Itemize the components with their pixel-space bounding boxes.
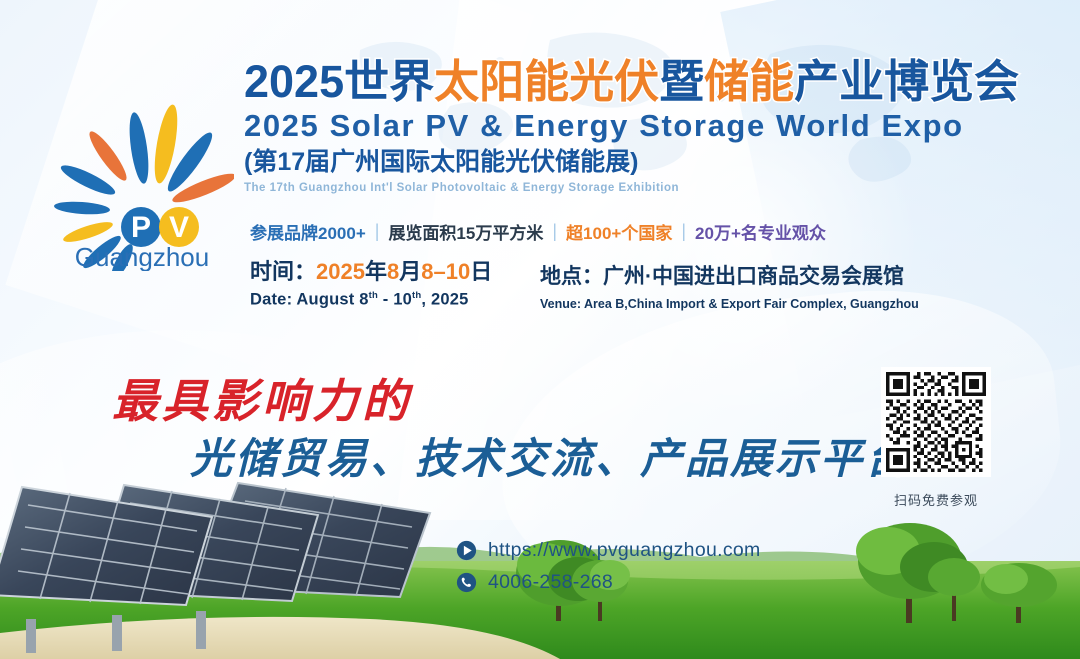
date-en-dash: - xyxy=(378,290,393,308)
date-year: 2025 xyxy=(316,259,365,284)
date-en-suffix: , 2025 xyxy=(421,290,468,308)
website-text[interactable]: https://www.pvguangzhou.com xyxy=(488,539,761,562)
expo-banner: P V Guangzhou 2025世界太阳能光伏暨储能产业博览会 2025 S… xyxy=(0,0,1080,659)
logo-letter-p: P xyxy=(131,211,151,244)
qr-code-graphic xyxy=(886,372,986,472)
date-month-unit: 月 xyxy=(399,259,421,284)
logo-wordmark: Guangzhou xyxy=(75,242,209,271)
stat-separator: | xyxy=(375,221,380,242)
title-part-2: 太阳能光伏 xyxy=(434,56,659,107)
title-part-3: 暨 xyxy=(659,56,704,107)
venue-label-cn: 地点： xyxy=(540,265,603,288)
stats-row: 参展品牌2000+ | 展览面积15万平方米 | 超100+个国家 | 20万+… xyxy=(250,219,826,244)
stat-separator: | xyxy=(552,221,557,242)
phone-row[interactable]: 4006-258-268 xyxy=(456,571,761,594)
website-row[interactable]: https://www.pvguangzhou.com xyxy=(456,539,761,562)
stat-visitors: 20万+名专业观众 xyxy=(695,219,826,244)
qr-code[interactable] xyxy=(881,367,991,477)
stat-countries: 超100+个国家 xyxy=(566,219,672,244)
title-part-4: 储能 xyxy=(704,56,794,107)
venue-english: Venue: Area B,China Import & Export Fair… xyxy=(540,297,919,311)
title-subtitle-chinese: (第17届广州国际太阳能光伏储能展) xyxy=(244,147,1044,177)
title-subtitle-english: The 17th Guangzhou Int'l Solar Photovolt… xyxy=(244,182,1044,194)
date-year-unit: 年 xyxy=(365,259,387,284)
date-en-prefix: Date: August xyxy=(250,290,359,308)
stat-separator: | xyxy=(681,221,686,242)
phone-circle-icon xyxy=(456,572,477,593)
date-day-unit: 日 xyxy=(470,259,492,284)
slogan-line-1: 最具影响力的 xyxy=(112,365,412,431)
logo-graphic: P V Guangzhou xyxy=(44,96,234,271)
header-block: 2025世界太阳能光伏暨储能产业博览会 2025 Solar PV & Ener… xyxy=(244,58,1044,194)
date-venue-block: 时间：2025年8月8–10日 Date: August 8th - 10th,… xyxy=(250,258,1010,311)
date-en-day1: 8 xyxy=(359,290,368,308)
qr-block: 扫码免费参观 xyxy=(875,367,997,509)
venue-value-cn: 广州·中国进出口商品交易会展馆 xyxy=(603,265,904,288)
pv-guangzhou-logo: P V Guangzhou xyxy=(44,96,234,271)
title-part-1: 2025世界 xyxy=(244,56,434,107)
date-month: 8 xyxy=(387,259,399,284)
title-part-5: 产业博览会 xyxy=(794,56,1019,107)
title-chinese: 2025世界太阳能光伏暨储能产业博览会 xyxy=(244,58,1044,107)
title-english: 2025 Solar PV & Energy Storage World Exp… xyxy=(244,108,1044,145)
date-label-cn: 时间： xyxy=(250,259,316,284)
date-days: 8–10 xyxy=(421,259,470,284)
date-english: Date: August 8th - 10th, 2025 xyxy=(250,290,540,310)
stat-area: 展览面积15万平方米 xyxy=(388,219,543,244)
contact-block: https://www.pvguangzhou.com 4006-258-268 xyxy=(456,539,761,603)
play-circle-icon xyxy=(456,540,477,561)
date-en-sup1: th xyxy=(369,290,378,301)
qr-caption: 扫码免费参观 xyxy=(875,490,997,509)
stat-brands: 参展品牌2000+ xyxy=(250,219,366,244)
phone-text[interactable]: 4006-258-268 xyxy=(488,571,613,594)
venue-chinese: 地点：广州·中国进出口商品交易会展馆 xyxy=(540,260,919,290)
date-block: 时间：2025年8月8–10日 Date: August 8th - 10th,… xyxy=(250,258,540,311)
venue-block: 地点：广州·中国进出口商品交易会展馆 Venue: Area B,China I… xyxy=(540,258,919,311)
date-chinese: 时间：2025年8月8–10日 xyxy=(250,258,540,286)
logo-letter-v: V xyxy=(169,211,189,244)
date-en-day2: 10 xyxy=(393,290,412,308)
